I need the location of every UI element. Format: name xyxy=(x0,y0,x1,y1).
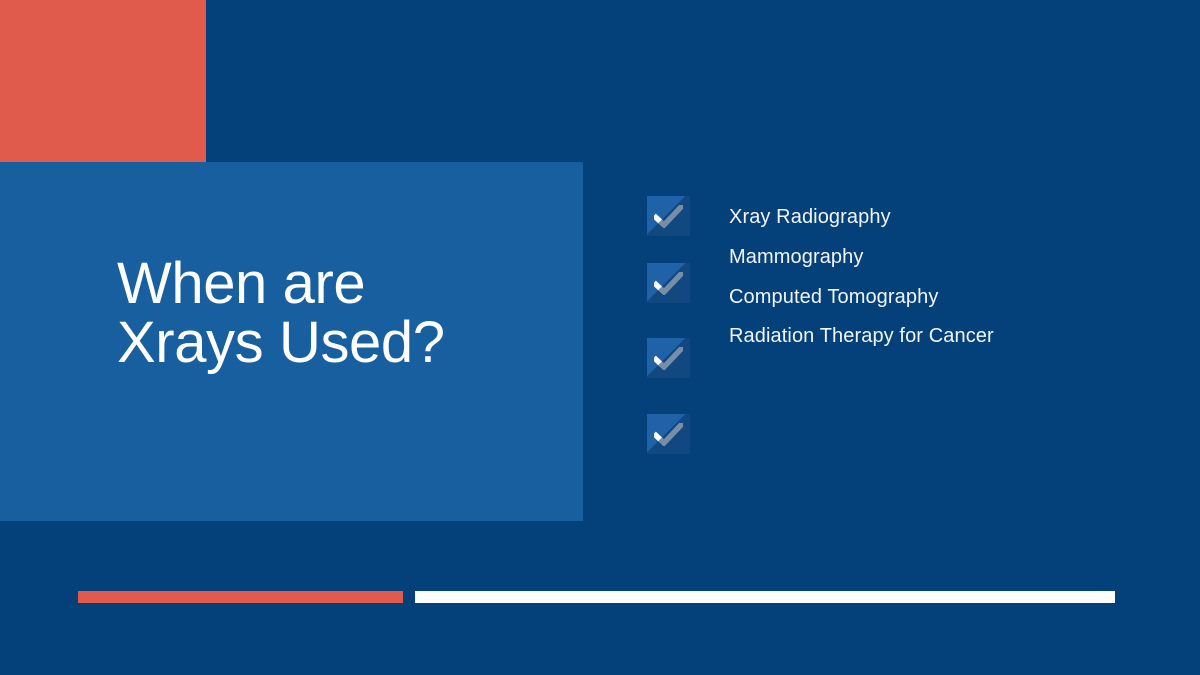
check-icon xyxy=(654,205,683,228)
checklist-label-3: Computed Tomography xyxy=(729,278,1129,318)
checkbox-item-2[interactable] xyxy=(647,263,690,303)
footer-bar-accent xyxy=(78,591,403,603)
checklist-label-2: Mammography xyxy=(729,238,1129,278)
accent-rectangle-top-left xyxy=(0,0,206,162)
checkbox-item-1[interactable] xyxy=(647,196,690,236)
checklist-labels: Xray Radiography Mammography Computed To… xyxy=(729,198,1129,357)
title-line-1: When are xyxy=(117,254,577,313)
title-line-2: Xrays Used? xyxy=(117,313,577,372)
page-title: When are Xrays Used? xyxy=(117,254,577,372)
slide-canvas: When are Xrays Used? xyxy=(0,0,1200,675)
check-icon xyxy=(654,423,683,446)
footer-bar-white xyxy=(415,591,1115,603)
checklist-label-4: Radiation Therapy for Cancer xyxy=(729,317,1129,357)
checklist: Xray Radiography Mammography Computed To… xyxy=(647,196,1127,456)
checklist-label-1: Xray Radiography xyxy=(729,198,1129,238)
check-icon xyxy=(654,272,683,295)
check-icon xyxy=(654,347,683,370)
checkbox-item-4[interactable] xyxy=(647,414,690,454)
checkbox-item-3[interactable] xyxy=(647,338,690,378)
